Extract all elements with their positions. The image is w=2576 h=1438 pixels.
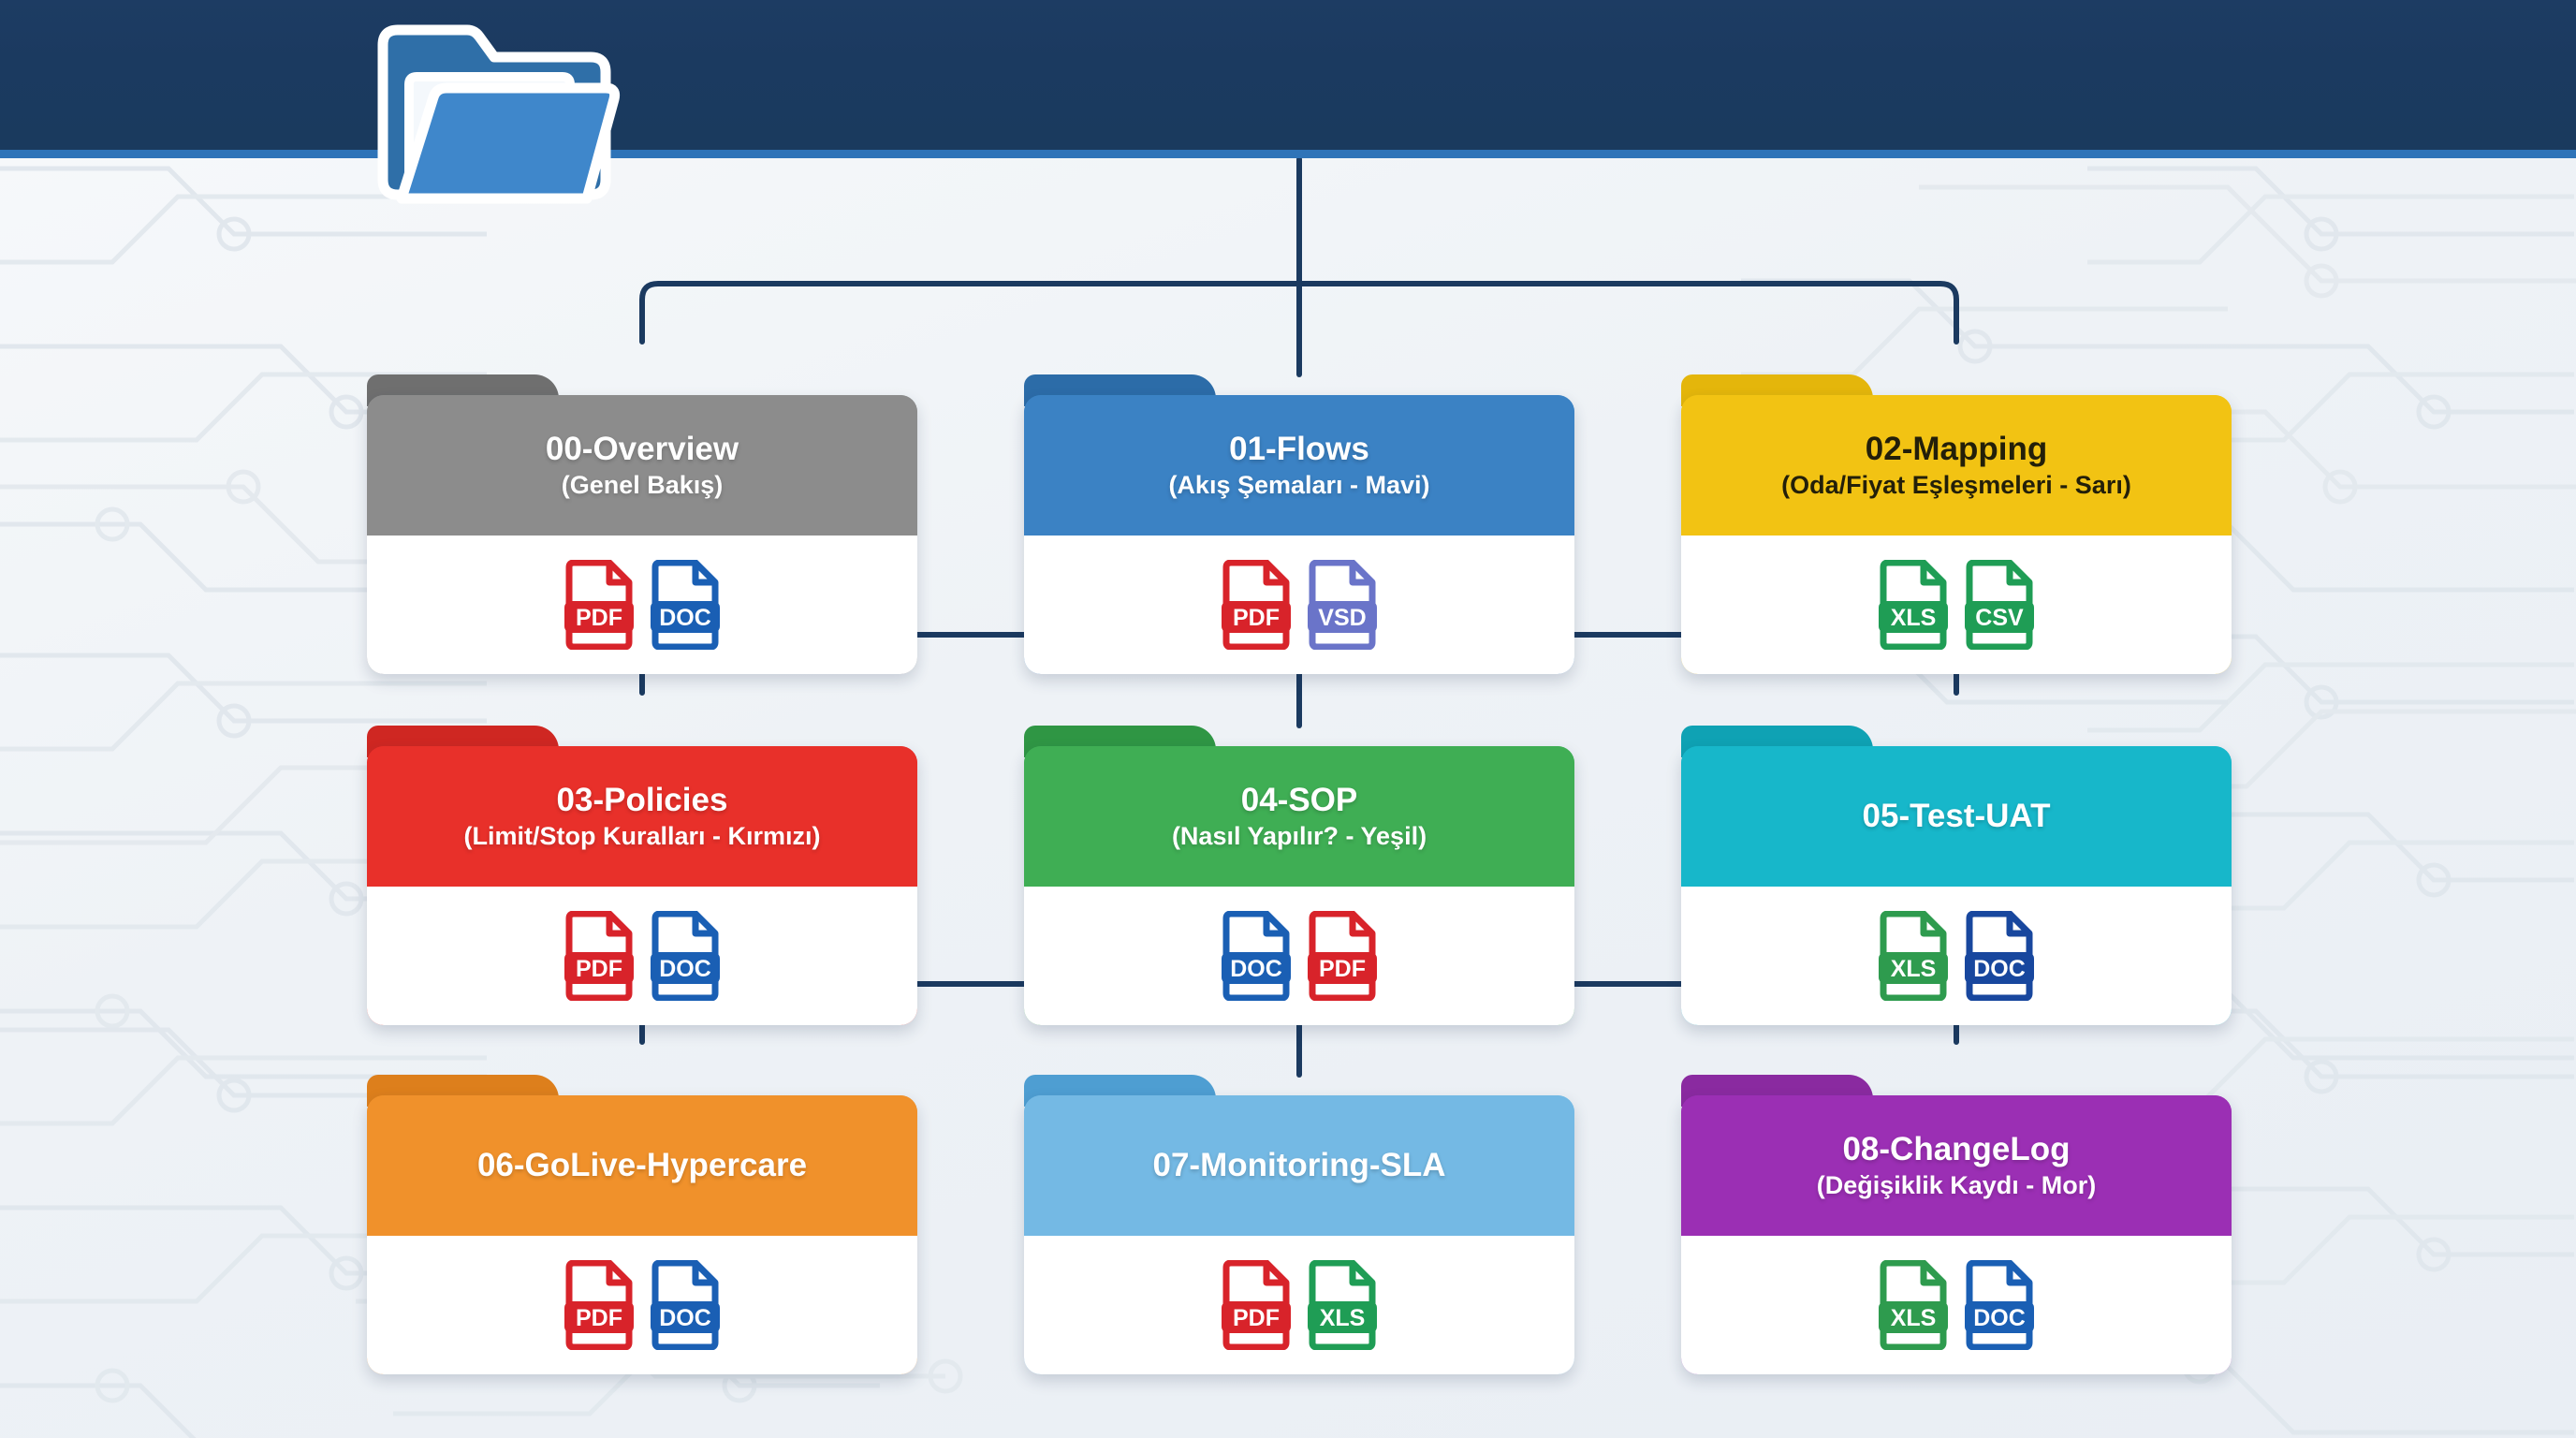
folder-title: 02-Mapping	[1866, 431, 2047, 467]
svg-text:CSV: CSV	[1975, 605, 2024, 631]
folder-file-list: XLSDOC	[1681, 887, 2232, 1025]
folder-header: 07-Monitoring-SLA	[1024, 1095, 1574, 1236]
folder-body: 00-Overview(Genel Bakış)PDFDOC	[367, 395, 917, 674]
folder-body: 02-Mapping(Oda/Fiyat Eşleşmeleri - Sarı)…	[1681, 395, 2232, 674]
pdf-file-icon: PDF	[563, 560, 636, 650]
doc-file-icon: DOC	[1963, 1260, 2036, 1350]
svg-text:XLS: XLS	[1891, 956, 1937, 982]
folder-card-07-monitoring-sla[interactable]: 07-Monitoring-SLAPDFXLS	[1024, 1075, 1574, 1374]
folder-subtitle: (Genel Bakış)	[562, 471, 724, 500]
folder-file-list: PDFXLS	[1024, 1236, 1574, 1374]
folder-subtitle: (Değişiklik Kaydı - Mor)	[1817, 1171, 2097, 1200]
folder-title: 04-SOP	[1241, 782, 1358, 818]
svg-text:DOC: DOC	[1973, 956, 2026, 982]
doc-file-icon: DOC	[1220, 911, 1293, 1001]
folder-file-list: PDFDOC	[367, 1236, 917, 1374]
folder-card-03-policies[interactable]: 03-Policies(Limit/Stop Kuralları - Kırmı…	[367, 726, 917, 1025]
svg-text:PDF: PDF	[1319, 956, 1366, 982]
csv-file-icon: CSV	[1963, 560, 2036, 650]
pdf-file-icon: PDF	[1306, 911, 1379, 1001]
svg-text:PDF: PDF	[576, 956, 622, 982]
svg-text:XLS: XLS	[1320, 1305, 1366, 1331]
svg-text:DOC: DOC	[659, 956, 711, 982]
svg-text:PDF: PDF	[576, 605, 622, 631]
folder-header: 05-Test-UAT	[1681, 746, 2232, 887]
folder-title: 06-GoLive-Hypercare	[477, 1147, 807, 1183]
folder-body: 08-ChangeLog(Değişiklik Kaydı - Mor)XLSD…	[1681, 1095, 2232, 1374]
folder-grid: 00-Overview(Genel Bakış)PDFDOC01-Flows(A…	[0, 0, 2576, 1438]
folder-header: 01-Flows(Akış Şemaları - Mavi)	[1024, 395, 1574, 536]
folder-subtitle: (Akış Şemaları - Mavi)	[1168, 471, 1429, 500]
folder-subtitle: (Nasıl Yapılır? - Yeşil)	[1172, 822, 1427, 851]
svg-text:PDF: PDF	[576, 1305, 622, 1331]
svg-text:PDF: PDF	[1233, 1305, 1280, 1331]
folder-subtitle: (Limit/Stop Kuralları - Kırmızı)	[463, 822, 820, 851]
folder-title: 03-Policies	[557, 782, 728, 818]
svg-text:VSD: VSD	[1318, 605, 1366, 631]
svg-text:XLS: XLS	[1891, 605, 1937, 631]
pdf-file-icon: PDF	[1220, 560, 1293, 650]
svg-text:PDF: PDF	[1233, 605, 1280, 631]
folder-title: 08-ChangeLog	[1842, 1131, 2070, 1167]
xls-file-icon: XLS	[1306, 1260, 1379, 1350]
folder-card-01-flows[interactable]: 01-Flows(Akış Şemaları - Mavi)PDFVSD	[1024, 374, 1574, 674]
svg-text:DOC: DOC	[1973, 1305, 2026, 1331]
folder-file-list: PDFVSD	[1024, 536, 1574, 674]
xls-file-icon: XLS	[1877, 911, 1950, 1001]
doc-file-icon: DOC	[649, 1260, 722, 1350]
folder-header: 08-ChangeLog(Değişiklik Kaydı - Mor)	[1681, 1095, 2232, 1236]
folder-header: 02-Mapping(Oda/Fiyat Eşleşmeleri - Sarı)	[1681, 395, 2232, 536]
doc-file-icon: DOC	[649, 911, 722, 1001]
folder-file-list: PDFDOC	[367, 887, 917, 1025]
xls-file-icon: XLS	[1877, 560, 1950, 650]
folder-card-05-test-uat[interactable]: 05-Test-UATXLSDOC	[1681, 726, 2232, 1025]
folder-card-00-overview[interactable]: 00-Overview(Genel Bakış)PDFDOC	[367, 374, 917, 674]
xls-file-icon: XLS	[1877, 1260, 1950, 1350]
folder-card-06-golive-hypercare[interactable]: 06-GoLive-HypercarePDFDOC	[367, 1075, 917, 1374]
folder-card-08-changelog[interactable]: 08-ChangeLog(Değişiklik Kaydı - Mor)XLSD…	[1681, 1075, 2232, 1374]
folder-body: 01-Flows(Akış Şemaları - Mavi)PDFVSD	[1024, 395, 1574, 674]
folder-file-list: DOCPDF	[1024, 887, 1574, 1025]
folder-header: 04-SOP(Nasıl Yapılır? - Yeşil)	[1024, 746, 1574, 887]
pdf-file-icon: PDF	[563, 1260, 636, 1350]
folder-title: 00-Overview	[546, 431, 739, 467]
folder-title: 07-Monitoring-SLA	[1152, 1147, 1445, 1183]
doc-file-icon: DOC	[1963, 911, 2036, 1001]
doc-file-icon: DOC	[649, 560, 722, 650]
folder-card-02-mapping[interactable]: 02-Mapping(Oda/Fiyat Eşleşmeleri - Sarı)…	[1681, 374, 2232, 674]
folder-subtitle: (Oda/Fiyat Eşleşmeleri - Sarı)	[1781, 471, 2131, 500]
diagram-canvas: 00-Overview(Genel Bakış)PDFDOC01-Flows(A…	[0, 0, 2576, 1438]
svg-text:DOC: DOC	[1230, 956, 1282, 982]
folder-body: 03-Policies(Limit/Stop Kuralları - Kırmı…	[367, 746, 917, 1025]
folder-header: 06-GoLive-Hypercare	[367, 1095, 917, 1236]
folder-card-04-sop[interactable]: 04-SOP(Nasıl Yapılır? - Yeşil)DOCPDF	[1024, 726, 1574, 1025]
folder-body: 06-GoLive-HypercarePDFDOC	[367, 1095, 917, 1374]
folder-title: 01-Flows	[1229, 431, 1369, 467]
pdf-file-icon: PDF	[1220, 1260, 1293, 1350]
svg-text:XLS: XLS	[1891, 1305, 1937, 1331]
folder-header: 03-Policies(Limit/Stop Kuralları - Kırmı…	[367, 746, 917, 887]
folder-file-list: XLSDOC	[1681, 1236, 2232, 1374]
svg-text:DOC: DOC	[659, 1305, 711, 1331]
folder-header: 00-Overview(Genel Bakış)	[367, 395, 917, 536]
svg-text:DOC: DOC	[659, 605, 711, 631]
folder-file-list: XLSCSV	[1681, 536, 2232, 674]
folder-title: 05-Test-UAT	[1863, 798, 2051, 834]
pdf-file-icon: PDF	[563, 911, 636, 1001]
folder-body: 04-SOP(Nasıl Yapılır? - Yeşil)DOCPDF	[1024, 746, 1574, 1025]
folder-file-list: PDFDOC	[367, 536, 917, 674]
folder-body: 07-Monitoring-SLAPDFXLS	[1024, 1095, 1574, 1374]
folder-body: 05-Test-UATXLSDOC	[1681, 746, 2232, 1025]
open-folder-icon	[370, 15, 637, 212]
vsd-file-icon: VSD	[1306, 560, 1379, 650]
